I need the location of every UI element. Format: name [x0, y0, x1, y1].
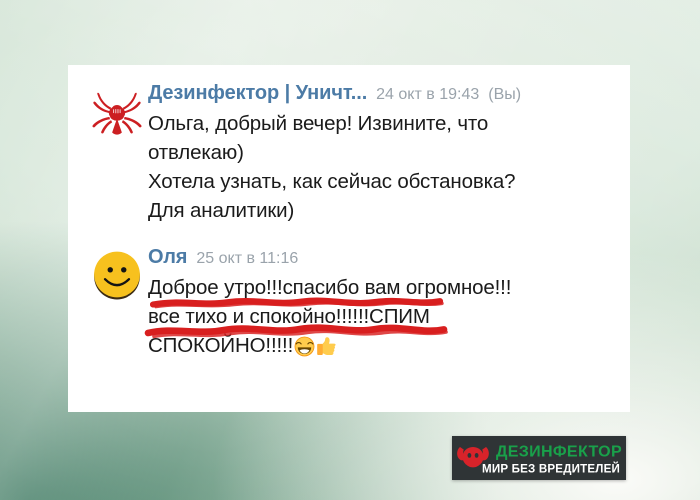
message-text-line-with-emoji: СПОКОЙНО!!!!!: [148, 331, 614, 360]
message-timestamp: 25 окт в 11:16: [196, 251, 298, 267]
message-text-line: Для аналитики): [148, 196, 614, 225]
message-header: Дезинфектор | Уничт... 24 окт в 19:43 (В…: [148, 83, 614, 103]
sender-name[interactable]: Оля: [148, 247, 187, 267]
message-text-line: Ольга, добрый вечер! Извините, что: [148, 109, 614, 138]
smiley-avatar-icon: [91, 249, 143, 301]
message-timestamp: 24 окт в 19:43: [376, 87, 479, 103]
message-content: Дезинфектор | Уничт... 24 окт в 19:43 (В…: [148, 83, 614, 225]
message-text-line: Доброе утро!!!спасибо вам огромное!!!: [148, 273, 614, 302]
thumbs-up-emoji: [316, 336, 337, 357]
logo-title: ДЕЗИНФЕКТОР: [496, 444, 622, 461]
chat-message: Дезинфектор | Уничт... 24 окт в 19:43 (В…: [86, 83, 614, 225]
spider-avatar-icon: [90, 85, 144, 139]
message-content: Оля 25 окт в 11:16 Доброе утро!!!спасибо…: [148, 247, 614, 360]
avatar: [86, 83, 148, 139]
message-text-line: СПОКОЙНО!!!!!: [148, 334, 293, 357]
logo-artwork: ДЕЗИНФЕКТОР МИР БЕЗ ВРЕДИТЕЛЕЙ: [452, 436, 626, 480]
highlighted-text-block: все тихо и спокойно!!!!!!СПИМ СПОКОЙНО!!…: [148, 302, 614, 360]
message-text: Ольга, добрый вечер! Извините, что отвле…: [148, 109, 614, 225]
message-text-line: Хотела узнать, как сейчас обстановка?: [148, 167, 614, 196]
chat-screenshot-card: Дезинфектор | Уничт... 24 окт в 19:43 (В…: [68, 65, 630, 412]
logo-subtitle: МИР БЕЗ ВРЕДИТЕЛЕЙ: [482, 461, 620, 476]
message-text-line: отвлекаю): [148, 138, 614, 167]
grinning-face-emoji: [294, 336, 315, 357]
brand-logo-badge: ДЕЗИНФЕКТОР МИР БЕЗ ВРЕДИТЕЛЕЙ: [452, 436, 626, 480]
message-header: Оля 25 окт в 11:16: [148, 247, 614, 267]
avatar: [86, 247, 148, 301]
message-text: Доброе утро!!!спасибо вам огромное!!! вс…: [148, 273, 614, 360]
chat-message: Оля 25 окт в 11:16 Доброе утро!!!спасибо…: [86, 247, 614, 360]
own-message-marker: (Вы): [488, 87, 521, 103]
sender-name[interactable]: Дезинфектор | Уничт...: [148, 83, 367, 103]
message-text-line: все тихо и спокойно!!!!!!СПИМ: [148, 302, 614, 331]
